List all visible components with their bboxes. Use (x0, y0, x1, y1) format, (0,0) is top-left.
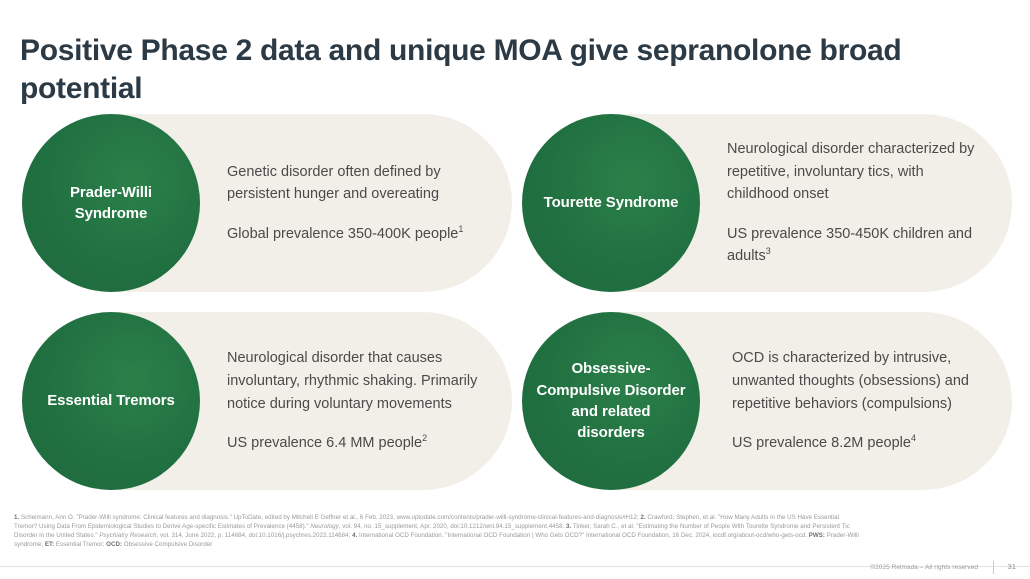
card-statistic-text: Global prevalence 350-400K people (227, 226, 458, 242)
slide-root: { "slide": { "title": "Positive Phase 2 … (0, 0, 1030, 579)
card-statistic-footnote-marker: 3 (766, 247, 771, 257)
disease-card-obsessive-compulsive-disorder[interactable]: Obsessive-Compulsive Disorder and relate… (522, 312, 1012, 504)
card-statistic-text: US prevalence 350-450K children and adul… (727, 226, 972, 265)
footnote-ref2-text-b: , vol. 94, no. 15_supplement, Apr. 2020,… (339, 523, 566, 530)
footnote-ref1-text: Scheimann, Ann O. "Prader-Willi syndrome… (19, 514, 640, 521)
footer-copyright: ©2025 Relmada – All rights reserved (870, 564, 978, 571)
card-text-body: Neurological disorder characterized by r… (727, 114, 984, 292)
abbreviation-ocd-text: Obsessive Compulsive Disorder (122, 541, 212, 548)
card-statistic-footnote-marker: 4 (911, 433, 916, 443)
card-title-label: Obsessive-Compulsive Disorder and relate… (536, 358, 686, 443)
card-statistic: Global prevalence 350-400K people1 (227, 223, 484, 246)
disease-card-tourette-syndrome[interactable]: Tourette Syndrome Neurological disorder … (522, 114, 1012, 306)
card-text-body: Neurological disorder that causes involu… (227, 312, 484, 490)
abbreviation-et-label: ET: (45, 541, 54, 548)
card-statistic-footnote-marker: 2 (422, 433, 427, 443)
footnotes-block: 1. Scheimann, Ann O. "Prader-Willi syndr… (14, 514, 859, 550)
card-statistic: US prevalence 6.4 MM people2 (227, 432, 484, 455)
card-circle-obsessive-compulsive-disorder[interactable]: Obsessive-Compulsive Disorder and relate… (522, 312, 700, 490)
footer-separator (993, 561, 994, 574)
footnote-ref3-text-b: , vol. 314, June 2022, p. 114684, doi:10… (157, 532, 353, 539)
card-description: OCD is characterized by intrusive, unwan… (732, 347, 984, 415)
card-description: Neurological disorder that causes involu… (227, 347, 484, 415)
card-description: Genetic disorder often defined by persis… (227, 161, 484, 206)
footnote-ref3-journal: Psychiatry Research (99, 532, 156, 539)
footnote-ref4-text: International OCD Foundation. "Internati… (357, 532, 808, 539)
card-statistic-text: US prevalence 8.2M people (732, 435, 911, 451)
abbreviation-ocd-label: OCD: (106, 541, 122, 548)
card-title-label: Essential Tremors (47, 390, 175, 411)
disease-card-essential-tremors[interactable]: Essential Tremors Neurological disorder … (22, 312, 512, 504)
card-title-label: Tourette Syndrome (544, 192, 679, 213)
footer-page-number: 31 (1008, 562, 1016, 571)
card-statistic: US prevalence 8.2M people4 (732, 432, 984, 455)
page-title: Positive Phase 2 data and unique MOA giv… (20, 32, 920, 109)
footnote-ref2-journal: Neurology (310, 523, 338, 530)
card-circle-essential-tremors[interactable]: Essential Tremors (22, 312, 200, 490)
card-circle-tourette-syndrome[interactable]: Tourette Syndrome (522, 114, 700, 292)
abbreviation-et-text: Essential Tremor; (54, 541, 106, 548)
card-statistic-text: US prevalence 6.4 MM people (227, 435, 422, 451)
card-statistic-footnote-marker: 1 (458, 224, 463, 234)
card-title-label: Prader-Willi Syndrome (36, 182, 186, 225)
card-statistic: US prevalence 350-450K children and adul… (727, 223, 984, 268)
disease-card-prader-willi-syndrome[interactable]: Prader-Willi Syndrome Genetic disorder o… (22, 114, 512, 306)
card-text-body: Genetic disorder often defined by persis… (227, 114, 484, 292)
card-description: Neurological disorder characterized by r… (727, 138, 984, 206)
abbreviation-pws-label: PWS: (809, 532, 825, 539)
disease-card-grid: Prader-Willi Syndrome Genetic disorder o… (22, 114, 1012, 504)
card-circle-prader-willi-syndrome[interactable]: Prader-Willi Syndrome (22, 114, 200, 292)
card-text-body: OCD is characterized by intrusive, unwan… (732, 312, 984, 490)
